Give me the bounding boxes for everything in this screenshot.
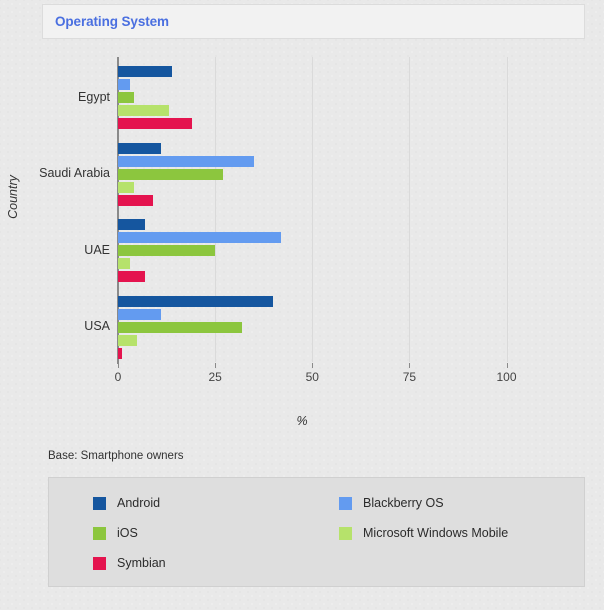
category-label-egypt: Egypt bbox=[0, 90, 110, 104]
tick-label: 100 bbox=[496, 370, 516, 384]
bar-egypt-blackberry-os[interactable] bbox=[118, 79, 130, 90]
legend-item-blackberry-os[interactable]: Blackberry OS bbox=[339, 496, 444, 510]
bar-saudi-arabia-microsoft-windows-mobile[interactable] bbox=[118, 182, 134, 193]
legend-swatch-icon bbox=[93, 527, 106, 540]
category-label-usa: USA bbox=[0, 319, 110, 333]
bar-saudi-arabia-blackberry-os[interactable] bbox=[118, 156, 254, 167]
bar-uae-symbian[interactable] bbox=[118, 271, 145, 282]
legend-label: Symbian bbox=[117, 556, 166, 570]
tick-label: 25 bbox=[208, 370, 221, 384]
bar-egypt-symbian[interactable] bbox=[118, 118, 192, 129]
legend-swatch-icon bbox=[93, 557, 106, 570]
tick-mark bbox=[312, 363, 313, 368]
bar-uae-ios[interactable] bbox=[118, 245, 215, 256]
bar-saudi-arabia-ios[interactable] bbox=[118, 169, 223, 180]
y-axis-label: Country bbox=[6, 162, 20, 232]
bar-egypt-ios[interactable] bbox=[118, 92, 134, 103]
tick-mark bbox=[409, 363, 410, 368]
base-note: Base: Smartphone owners bbox=[48, 450, 184, 462]
bar-saudi-arabia-symbian[interactable] bbox=[118, 195, 153, 206]
tick-label: 50 bbox=[306, 370, 319, 384]
bar-usa-symbian[interactable] bbox=[118, 348, 122, 359]
bar-uae-microsoft-windows-mobile[interactable] bbox=[118, 258, 130, 269]
bar-usa-android[interactable] bbox=[118, 296, 273, 307]
bar-usa-microsoft-windows-mobile[interactable] bbox=[118, 335, 137, 346]
legend-item-microsoft-windows-mobile[interactable]: Microsoft Windows Mobile bbox=[339, 526, 508, 540]
bar-saudi-arabia-android[interactable] bbox=[118, 143, 161, 154]
legend-label: Microsoft Windows Mobile bbox=[363, 526, 508, 540]
bar-usa-blackberry-os[interactable] bbox=[118, 309, 161, 320]
tick-label: 75 bbox=[403, 370, 416, 384]
chart-title-panel: Operating System bbox=[42, 4, 585, 39]
legend: AndroidiOSSymbianBlackberry OSMicrosoft … bbox=[48, 477, 585, 587]
legend-label: Android bbox=[117, 496, 160, 510]
tick-mark bbox=[215, 363, 216, 368]
tick-mark bbox=[118, 363, 119, 368]
chart-page: Operating System EgyptSaudi ArabiaUAEUSA… bbox=[0, 0, 604, 610]
legend-swatch-icon bbox=[339, 497, 352, 510]
legend-label: iOS bbox=[117, 526, 138, 540]
legend-label: Blackberry OS bbox=[363, 496, 444, 510]
legend-item-ios[interactable]: iOS bbox=[93, 526, 138, 540]
legend-item-symbian[interactable]: Symbian bbox=[93, 556, 166, 570]
plot-area bbox=[118, 57, 507, 362]
tick-label: 0 bbox=[115, 370, 122, 384]
category-label-uae: UAE bbox=[0, 243, 110, 257]
legend-item-android[interactable]: Android bbox=[93, 496, 160, 510]
bar-uae-android[interactable] bbox=[118, 219, 145, 230]
bar-egypt-android[interactable] bbox=[118, 66, 172, 77]
legend-swatch-icon bbox=[339, 527, 352, 540]
legend-swatch-icon bbox=[93, 497, 106, 510]
x-axis-label: % bbox=[0, 414, 604, 428]
tick-mark bbox=[507, 363, 508, 368]
bar-egypt-microsoft-windows-mobile[interactable] bbox=[118, 105, 169, 116]
bar-usa-ios[interactable] bbox=[118, 322, 242, 333]
bar-uae-blackberry-os[interactable] bbox=[118, 232, 281, 243]
